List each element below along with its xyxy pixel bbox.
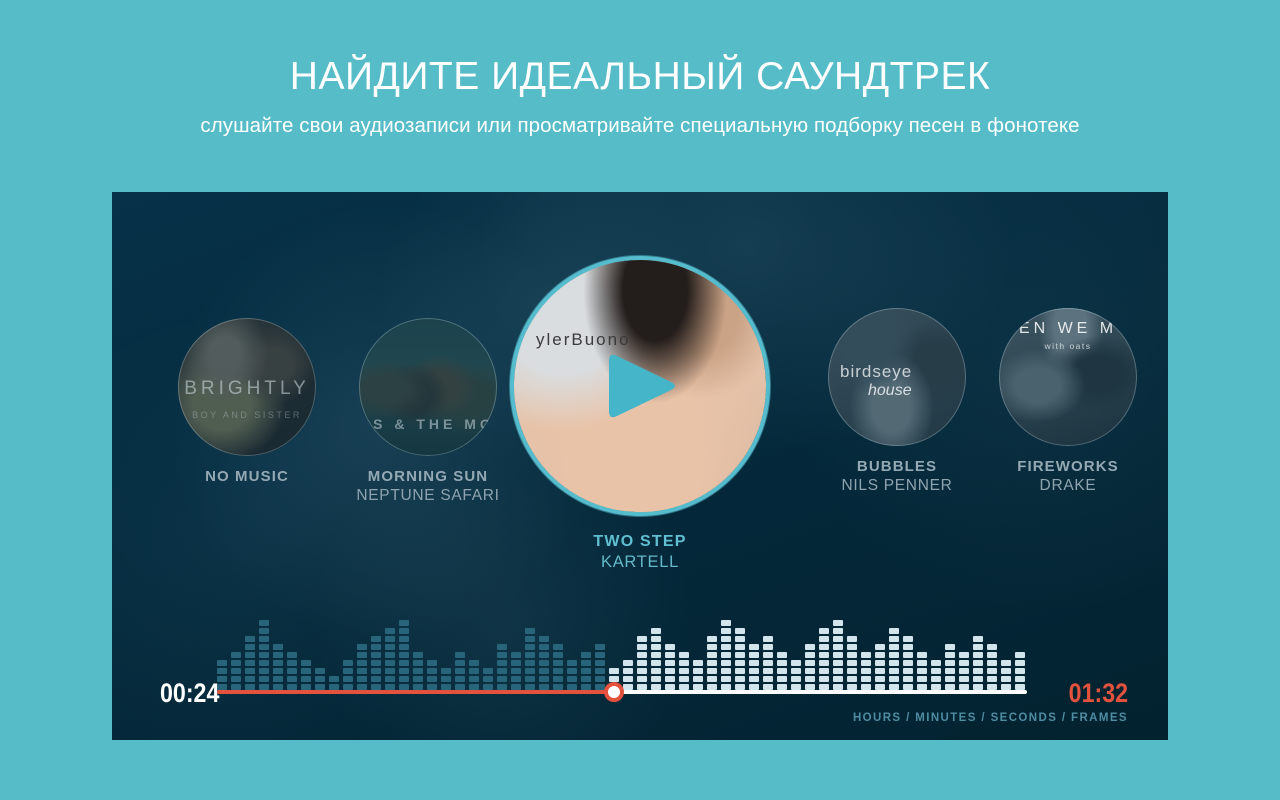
waveform-bar bbox=[623, 660, 633, 690]
waveform-bar bbox=[273, 644, 283, 690]
waveform-bar bbox=[749, 644, 759, 690]
waveform-segment bbox=[287, 668, 297, 674]
thumbnail-ring bbox=[178, 318, 316, 456]
track-labels: NO MUSIC bbox=[157, 468, 337, 485]
waveform-segment bbox=[707, 668, 717, 674]
waveform-segment bbox=[847, 644, 857, 650]
waveform-segment bbox=[777, 652, 787, 658]
page-subtitle: слушайте свои аудиозаписи или просматрив… bbox=[0, 113, 1280, 139]
waveform-segment bbox=[399, 668, 409, 674]
waveform-segment bbox=[763, 676, 773, 682]
waveform-segment bbox=[749, 676, 759, 682]
waveform-segment bbox=[945, 668, 955, 674]
waveform-bar bbox=[917, 652, 927, 690]
waveform-segment bbox=[287, 652, 297, 658]
waveform-segment bbox=[945, 652, 955, 658]
waveform-segment bbox=[959, 660, 969, 666]
waveform-segment bbox=[511, 652, 521, 658]
waveform-segment bbox=[833, 620, 843, 626]
waveform-segment bbox=[805, 676, 815, 682]
waveform-segment bbox=[805, 652, 815, 658]
waveform-segment bbox=[525, 644, 535, 650]
waveform-segment bbox=[665, 644, 675, 650]
waveform-segment bbox=[399, 636, 409, 642]
track-artist: NILS PENNER bbox=[807, 477, 987, 495]
waveform-segment bbox=[273, 644, 283, 650]
waveform-segment bbox=[987, 652, 997, 658]
waveform-segment bbox=[1001, 668, 1011, 674]
waveform-segment bbox=[385, 636, 395, 642]
waveform-segment bbox=[945, 644, 955, 650]
waveform-segment bbox=[637, 636, 647, 642]
waveform-segment bbox=[959, 668, 969, 674]
waveform-segment bbox=[371, 668, 381, 674]
waveform-segment bbox=[861, 668, 871, 674]
waveform-segment bbox=[763, 652, 773, 658]
waveform-segment bbox=[385, 652, 395, 658]
waveform-segment bbox=[637, 668, 647, 674]
waveform-segment bbox=[861, 660, 871, 666]
waveform-bar bbox=[329, 676, 339, 690]
waveform-bar bbox=[441, 668, 451, 690]
waveform-segment bbox=[763, 668, 773, 674]
waveform-segment bbox=[693, 668, 703, 674]
waveform-segment bbox=[259, 644, 269, 650]
progress-remaining bbox=[614, 690, 1027, 694]
waveform-bar bbox=[455, 652, 465, 690]
waveform-segment bbox=[399, 628, 409, 634]
waveform-bar bbox=[987, 644, 997, 690]
waveform-segment bbox=[819, 636, 829, 642]
waveform-segment bbox=[259, 636, 269, 642]
waveform-segment bbox=[651, 676, 661, 682]
waveform-segment bbox=[861, 676, 871, 682]
waveform-segment bbox=[371, 652, 381, 658]
waveform-segment bbox=[651, 668, 661, 674]
waveform-segment bbox=[413, 652, 423, 658]
waveform-bar bbox=[287, 652, 297, 690]
waveform-segment bbox=[875, 676, 885, 682]
waveform-bar bbox=[931, 660, 941, 690]
waveform-segment bbox=[413, 660, 423, 666]
waveform-segment bbox=[721, 668, 731, 674]
waveform-bar bbox=[861, 652, 871, 690]
waveform-segment bbox=[819, 652, 829, 658]
waveform-segment bbox=[889, 668, 899, 674]
waveform-bar bbox=[385, 628, 395, 690]
waveform-segment bbox=[455, 668, 465, 674]
waveform-segment bbox=[455, 660, 465, 666]
waveform-segment bbox=[665, 668, 675, 674]
waveform-segment bbox=[385, 676, 395, 682]
waveform-segment bbox=[973, 668, 983, 674]
waveform-segment bbox=[833, 652, 843, 658]
waveform-segment bbox=[553, 668, 563, 674]
waveform-segment bbox=[889, 644, 899, 650]
waveform-segment bbox=[903, 676, 913, 682]
waveform-segment bbox=[385, 628, 395, 634]
waveform-segment bbox=[791, 668, 801, 674]
track-artist: KARTELL bbox=[490, 553, 790, 572]
waveform-segment bbox=[427, 668, 437, 674]
waveform-segment bbox=[749, 644, 759, 650]
waveform-bar bbox=[903, 636, 913, 690]
waveform-segment bbox=[861, 652, 871, 658]
waveform-segment bbox=[917, 676, 927, 682]
waveform-segment bbox=[973, 676, 983, 682]
waveform-segment bbox=[483, 676, 493, 682]
waveform-segment bbox=[1015, 676, 1025, 682]
waveform-segment bbox=[1015, 652, 1025, 658]
waveform-segment bbox=[735, 676, 745, 682]
thumbnail-ring bbox=[828, 308, 966, 446]
waveform-segment bbox=[847, 676, 857, 682]
thumbnail-ring bbox=[999, 308, 1137, 446]
waveform-segment bbox=[539, 668, 549, 674]
waveform-segment bbox=[833, 636, 843, 642]
waveform-segment bbox=[343, 676, 353, 682]
waveform-segment bbox=[385, 668, 395, 674]
waveform-segment bbox=[707, 660, 717, 666]
waveform-segment bbox=[525, 668, 535, 674]
waveform-segment bbox=[651, 644, 661, 650]
waveform-segment bbox=[567, 660, 577, 666]
waveform-segment bbox=[679, 668, 689, 674]
waveform-segment bbox=[735, 636, 745, 642]
waveform-bar bbox=[581, 652, 591, 690]
seek-bar[interactable] bbox=[217, 690, 1027, 694]
waveform-segment bbox=[721, 660, 731, 666]
waveform-segment bbox=[903, 636, 913, 642]
waveform-segment bbox=[343, 668, 353, 674]
waveform-segment bbox=[665, 660, 675, 666]
waveform-segment bbox=[987, 660, 997, 666]
waveform-bar bbox=[567, 660, 577, 690]
waveform-segment bbox=[1001, 660, 1011, 666]
waveform-segment bbox=[301, 668, 311, 674]
waveform-segment bbox=[651, 636, 661, 642]
waveform-segment bbox=[245, 676, 255, 682]
waveform-segment bbox=[651, 628, 661, 634]
waveform-segment bbox=[833, 676, 843, 682]
waveform-segment bbox=[903, 668, 913, 674]
waveform-segment bbox=[945, 676, 955, 682]
waveform-segment bbox=[539, 676, 549, 682]
waveform-visualizer[interactable] bbox=[217, 604, 1027, 690]
waveform-bar bbox=[399, 620, 409, 690]
carousel-item-fireworks[interactable]: EN WE M with oats FIREWORKS DRAKE bbox=[978, 308, 1158, 495]
waveform-segment bbox=[427, 660, 437, 666]
waveform-segment bbox=[637, 652, 647, 658]
waveform-segment bbox=[917, 660, 927, 666]
waveform-segment bbox=[231, 652, 241, 658]
waveform-segment bbox=[553, 644, 563, 650]
waveform-segment bbox=[889, 676, 899, 682]
waveform-segment bbox=[833, 628, 843, 634]
waveform-bar bbox=[315, 668, 325, 690]
waveform-segment bbox=[385, 644, 395, 650]
waveform-segment bbox=[903, 660, 913, 666]
waveform-segment bbox=[399, 660, 409, 666]
waveform-segment bbox=[931, 660, 941, 666]
waveform-segment bbox=[245, 636, 255, 642]
waveform-segment bbox=[553, 652, 563, 658]
waveform-segment bbox=[777, 660, 787, 666]
waveform-bar bbox=[371, 636, 381, 690]
waveform-segment bbox=[581, 676, 591, 682]
waveform-segment bbox=[273, 676, 283, 682]
waveform-bar bbox=[301, 660, 311, 690]
carousel-item-no-music[interactable]: BRIGHTLY BOY AND SISTER NO MUSIC bbox=[157, 318, 337, 487]
waveform-segment bbox=[749, 652, 759, 658]
waveform-segment bbox=[469, 660, 479, 666]
waveform-segment bbox=[259, 660, 269, 666]
waveform-segment bbox=[399, 620, 409, 626]
waveform-segment bbox=[273, 652, 283, 658]
waveform-segment bbox=[343, 660, 353, 666]
waveform-segment bbox=[987, 644, 997, 650]
carousel-item-two-step-active[interactable]: ylerBuono TWO STEP KARTELL bbox=[490, 256, 790, 572]
waveform-segment bbox=[595, 652, 605, 658]
track-title: NO MUSIC bbox=[157, 468, 337, 485]
track-title: TWO STEP bbox=[490, 533, 790, 551]
waveform-segment bbox=[525, 676, 535, 682]
waveform-segment bbox=[721, 652, 731, 658]
waveform-bar bbox=[679, 652, 689, 690]
waveform-segment bbox=[819, 660, 829, 666]
waveform-bar bbox=[497, 644, 507, 690]
waveform-segment bbox=[231, 660, 241, 666]
waveform-segment bbox=[805, 668, 815, 674]
waveform-segment bbox=[623, 660, 633, 666]
waveform-bar bbox=[427, 660, 437, 690]
waveform-segment bbox=[385, 660, 395, 666]
waveform-bar bbox=[959, 652, 969, 690]
waveform-segment bbox=[651, 660, 661, 666]
waveform-bar bbox=[539, 636, 549, 690]
waveform-segment bbox=[763, 644, 773, 650]
waveform-bar bbox=[847, 636, 857, 690]
waveform-segment bbox=[875, 660, 885, 666]
waveform-segment bbox=[735, 644, 745, 650]
waveform-segment bbox=[623, 676, 633, 682]
waveform-segment bbox=[301, 660, 311, 666]
waveform-bar bbox=[259, 620, 269, 690]
album-art-thumbnail-active[interactable]: ylerBuono bbox=[510, 256, 770, 516]
waveform-bar bbox=[511, 652, 521, 690]
waveform-bar bbox=[875, 644, 885, 690]
waveform-segment bbox=[987, 668, 997, 674]
waveform-segment bbox=[903, 652, 913, 658]
waveform-segment bbox=[791, 676, 801, 682]
waveform-bar bbox=[217, 660, 227, 690]
waveform-segment bbox=[553, 676, 563, 682]
waveform-bar bbox=[791, 660, 801, 690]
waveform-segment bbox=[287, 660, 297, 666]
waveform-segment bbox=[749, 660, 759, 666]
waveform-bar bbox=[343, 660, 353, 690]
waveform-segment bbox=[357, 652, 367, 658]
album-art-thumbnail[interactable]: RS & THE MOON bbox=[359, 318, 497, 456]
waveform-bar bbox=[819, 628, 829, 690]
waveform-bar bbox=[651, 628, 661, 690]
waveform-segment bbox=[833, 660, 843, 666]
waveform-bar bbox=[231, 652, 241, 690]
waveform-segment bbox=[819, 628, 829, 634]
waveform-segment bbox=[1015, 660, 1025, 666]
current-time: 00:24 bbox=[160, 678, 219, 709]
waveform-bar bbox=[693, 660, 703, 690]
waveform-bar bbox=[1001, 660, 1011, 690]
waveform-segment bbox=[259, 620, 269, 626]
progress-played bbox=[217, 690, 614, 694]
waveform-segment bbox=[791, 660, 801, 666]
waveform-segment bbox=[847, 652, 857, 658]
transport-bar: 00:24 01:32 HOURS / MINUTES / SECONDS / … bbox=[112, 604, 1168, 740]
waveform-segment bbox=[819, 644, 829, 650]
waveform-bar bbox=[973, 636, 983, 690]
waveform-segment bbox=[875, 652, 885, 658]
waveform-segment bbox=[987, 676, 997, 682]
waveform-segment bbox=[497, 668, 507, 674]
album-art-thumbnail[interactable]: birdseye house bbox=[828, 308, 966, 446]
waveform-segment bbox=[357, 644, 367, 650]
album-art-thumbnail[interactable]: BRIGHTLY BOY AND SISTER bbox=[178, 318, 316, 456]
waveform-segment bbox=[497, 660, 507, 666]
waveform-segment bbox=[749, 668, 759, 674]
waveform-segment bbox=[889, 636, 899, 642]
waveform-segment bbox=[707, 644, 717, 650]
waveform-segment bbox=[287, 676, 297, 682]
waveform-segment bbox=[595, 676, 605, 682]
waveform-segment bbox=[721, 676, 731, 682]
waveform-segment bbox=[931, 676, 941, 682]
waveform-segment bbox=[679, 652, 689, 658]
waveform-segment bbox=[833, 668, 843, 674]
header: НАЙДИТЕ ИДЕАЛЬНЫЙ САУНДТРЕК слушайте сво… bbox=[0, 0, 1280, 139]
waveform-segment bbox=[441, 676, 451, 682]
waveform-segment bbox=[455, 676, 465, 682]
waveform-segment bbox=[273, 660, 283, 666]
waveform-bar bbox=[637, 636, 647, 690]
track-labels: BUBBLES NILS PENNER bbox=[807, 458, 987, 495]
waveform-segment bbox=[399, 644, 409, 650]
waveform-segment bbox=[735, 668, 745, 674]
total-time: 01:32 bbox=[1069, 678, 1128, 709]
waveform-segment bbox=[511, 660, 521, 666]
seek-handle[interactable] bbox=[604, 682, 624, 702]
carousel-item-bubbles[interactable]: birdseye house BUBBLES NILS PENNER bbox=[807, 308, 987, 495]
waveform-segment bbox=[427, 676, 437, 682]
waveform-segment bbox=[665, 652, 675, 658]
waveform-segment bbox=[735, 652, 745, 658]
waveform-segment bbox=[259, 676, 269, 682]
waveform-segment bbox=[889, 652, 899, 658]
music-player-panel: BRIGHTLY BOY AND SISTER NO MUSIC RS & TH bbox=[112, 192, 1168, 740]
waveform-segment bbox=[525, 660, 535, 666]
waveform-segment bbox=[959, 676, 969, 682]
waveform-segment bbox=[777, 676, 787, 682]
waveform-segment bbox=[469, 668, 479, 674]
waveform-segment bbox=[539, 660, 549, 666]
waveform-segment bbox=[217, 676, 227, 682]
waveform-segment bbox=[357, 668, 367, 674]
waveform-segment bbox=[973, 652, 983, 658]
waveform-segment bbox=[819, 676, 829, 682]
waveform-segment bbox=[973, 636, 983, 642]
waveform-segment bbox=[497, 676, 507, 682]
waveform-segment bbox=[707, 676, 717, 682]
waveform-bar bbox=[469, 660, 479, 690]
waveform-segment bbox=[567, 676, 577, 682]
waveform-segment bbox=[357, 676, 367, 682]
waveform-segment bbox=[595, 668, 605, 674]
album-art-thumbnail[interactable]: EN WE M with oats bbox=[999, 308, 1137, 446]
waveform-segment bbox=[231, 676, 241, 682]
waveform-bar bbox=[1015, 652, 1025, 690]
waveform-segment bbox=[245, 660, 255, 666]
track-title: BUBBLES bbox=[807, 458, 987, 475]
waveform-segment bbox=[469, 676, 479, 682]
waveform-segment bbox=[721, 644, 731, 650]
waveform-segment bbox=[273, 668, 283, 674]
waveform-segment bbox=[483, 668, 493, 674]
waveform-segment bbox=[217, 668, 227, 674]
waveform-segment bbox=[259, 652, 269, 658]
waveform-segment bbox=[931, 668, 941, 674]
waveform-bar bbox=[833, 620, 843, 690]
waveform-segment bbox=[763, 636, 773, 642]
waveform-segment bbox=[917, 652, 927, 658]
waveform-segment bbox=[399, 652, 409, 658]
waveform-segment bbox=[581, 668, 591, 674]
waveform-segment bbox=[259, 628, 269, 634]
waveform-segment bbox=[805, 644, 815, 650]
waveform-segment bbox=[595, 660, 605, 666]
waveform-segment bbox=[441, 668, 451, 674]
waveform-segment bbox=[245, 644, 255, 650]
waveform-segment bbox=[497, 644, 507, 650]
waveform-segment bbox=[777, 668, 787, 674]
waveform-segment bbox=[693, 660, 703, 666]
waveform-segment bbox=[833, 644, 843, 650]
waveform-segment bbox=[539, 644, 549, 650]
waveform-segment bbox=[945, 660, 955, 666]
waveform-bar bbox=[525, 628, 535, 690]
waveform-segment bbox=[847, 668, 857, 674]
waveform-segment bbox=[721, 628, 731, 634]
waveform-bar bbox=[245, 636, 255, 690]
track-artist: DRAKE bbox=[978, 477, 1158, 495]
waveform-segment bbox=[959, 652, 969, 658]
waveform-segment bbox=[623, 668, 633, 674]
waveform-segment bbox=[539, 636, 549, 642]
waveform-segment bbox=[889, 660, 899, 666]
waveform-segment bbox=[231, 668, 241, 674]
waveform-segment bbox=[847, 660, 857, 666]
waveform-segment bbox=[595, 644, 605, 650]
waveform-segment bbox=[245, 668, 255, 674]
waveform-segment bbox=[315, 676, 325, 682]
waveform-segment bbox=[525, 652, 535, 658]
waveform-segment bbox=[581, 652, 591, 658]
waveform-segment bbox=[329, 676, 339, 682]
waveform-segment bbox=[371, 660, 381, 666]
waveform-segment bbox=[805, 660, 815, 666]
waveform-segment bbox=[525, 636, 535, 642]
waveform-segment bbox=[973, 660, 983, 666]
waveform-bar bbox=[357, 644, 367, 690]
